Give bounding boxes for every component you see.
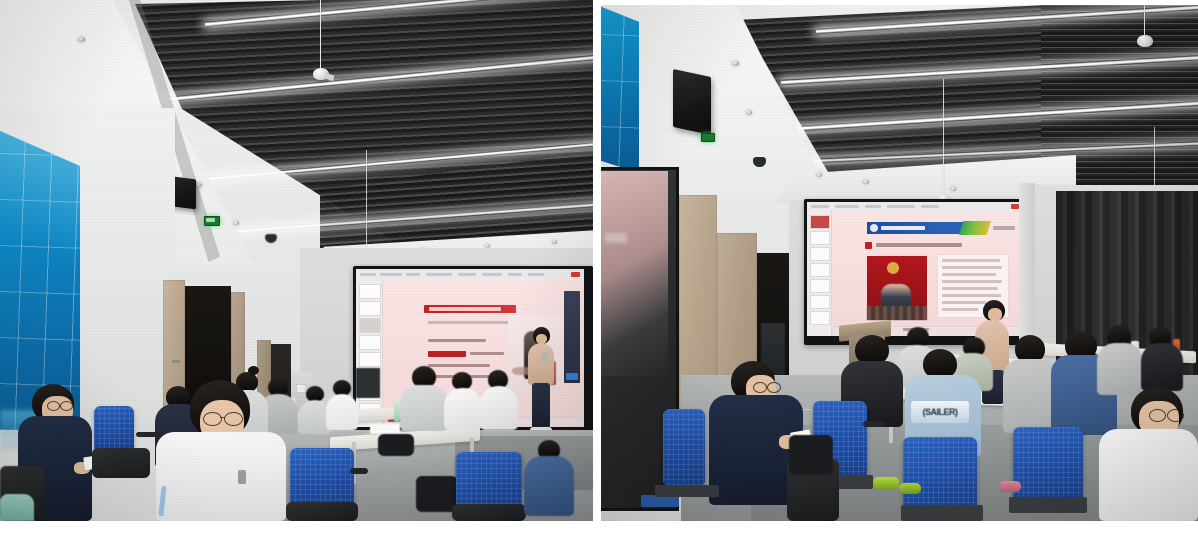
- slide-text-line: [942, 266, 1002, 269]
- sweatshirt-logo: [238, 470, 246, 484]
- eyeglasses: [47, 401, 60, 411]
- paper-sheet: [370, 424, 400, 434]
- presenter-legs: [532, 383, 550, 429]
- slide-body-line: [428, 339, 486, 342]
- chair-base: [1009, 497, 1087, 513]
- sneaker: [899, 483, 921, 494]
- spotlight-drop-wire: [320, 0, 321, 72]
- slide-title-text: [876, 243, 962, 247]
- ceiling-downlight: [816, 173, 822, 177]
- ceiling-downlight: [552, 240, 557, 244]
- student-sleeve: [0, 494, 34, 521]
- eyeglasses: [203, 412, 222, 426]
- ceiling-downlight: [951, 187, 956, 191]
- office-chair[interactable]: [663, 409, 705, 485]
- exit-sign: [701, 133, 715, 142]
- eyeglasses-bridge: [220, 417, 225, 418]
- slide-body-line: [470, 352, 504, 355]
- eyeglasses: [1149, 409, 1166, 422]
- slide-subtitle: [428, 321, 510, 324]
- presenter-microphone: [542, 352, 548, 363]
- office-chair[interactable]: [290, 448, 354, 510]
- chair-armrest: [863, 421, 885, 427]
- ceiling-downlight: [732, 61, 739, 66]
- slide-header-right-text: [993, 226, 1015, 230]
- track-spotlight: [1137, 35, 1153, 47]
- student-torso: [480, 386, 518, 430]
- chair-base: [655, 485, 719, 497]
- office-chair[interactable]: [903, 437, 977, 513]
- ceiling-downlight: [746, 110, 752, 115]
- student-torso: [1099, 429, 1198, 521]
- slide-text-line: [942, 301, 986, 304]
- student-head: [907, 327, 929, 347]
- ceiling-downlight: [78, 37, 85, 42]
- slide-text-line: [942, 280, 1002, 283]
- backpack: [378, 434, 414, 456]
- ceiling-downlight: [863, 180, 869, 184]
- eyeglasses: [753, 382, 767, 393]
- eyeglasses: [767, 382, 781, 393]
- solar-wall-panel: [601, 5, 639, 173]
- hoodie-graphic-text: (SAILER): [911, 405, 969, 419]
- student-torso: [326, 394, 358, 430]
- ceiling-downlight: [233, 221, 239, 225]
- student-torso: [524, 456, 574, 516]
- wall-speaker: [673, 69, 711, 135]
- student-torso: [400, 385, 448, 431]
- solar-panel-glow: [0, 130, 80, 430]
- student-torso: [444, 388, 482, 430]
- ceiling-drop-wire: [366, 150, 367, 262]
- eyeglasses: [224, 412, 243, 426]
- office-chair-seat[interactable]: [92, 448, 150, 478]
- slide-side-panel-accent: [566, 373, 578, 380]
- backpack: [789, 435, 833, 475]
- student-torso: [156, 432, 286, 521]
- right-photo[interactable]: (SAILER): [601, 5, 1198, 521]
- photo-pair-canvas: Wide interior view of a training classro…: [0, 0, 1198, 534]
- office-chair-seat[interactable]: [452, 504, 526, 521]
- ceiling-downlight: [196, 183, 202, 187]
- glass-board-reflection: [605, 233, 627, 243]
- slide-photo-audience: [867, 306, 927, 320]
- wall-outlet: [296, 384, 306, 393]
- slide-text-line: [942, 294, 1001, 297]
- presenter-torso: [528, 343, 554, 385]
- slide-header-logo: [870, 224, 878, 232]
- slide-text-line: [942, 287, 998, 290]
- office-chair-seat[interactable]: [286, 502, 358, 521]
- glass-board-glare: [601, 171, 668, 376]
- slide-header-text: [881, 226, 925, 230]
- slide-thumbnail-rail[interactable]: [356, 280, 383, 427]
- laptop: [356, 368, 380, 398]
- sneaker: [999, 481, 1021, 492]
- ceiling-drop-wire: [943, 79, 944, 204]
- slide-title-text: [429, 307, 501, 311]
- slide-thumbnail-rail[interactable]: [807, 211, 832, 336]
- slide-side-panel[interactable]: [564, 291, 580, 383]
- slide-text-line: [942, 308, 978, 311]
- sneaker: [873, 477, 899, 489]
- slide-highlight: [428, 351, 466, 357]
- slide-text-line: [942, 273, 996, 276]
- student-hair-bun: [248, 366, 259, 375]
- left-photo[interactable]: Wide interior view of a training classro…: [0, 0, 593, 521]
- slide-header-swoosh: [959, 221, 991, 235]
- door-handle[interactable]: [172, 360, 180, 363]
- slide-photo-emblem: [887, 262, 899, 274]
- chair-armrest: [350, 468, 368, 474]
- office-chair[interactable]: [1013, 427, 1083, 503]
- exit-sign-glyph: [206, 218, 215, 222]
- student-torso: [1097, 343, 1143, 395]
- slide-text-line: [942, 259, 1000, 262]
- student-torso: [1141, 343, 1183, 391]
- chair-armrest: [136, 432, 162, 437]
- slide-body-line: [428, 364, 490, 367]
- office-chair[interactable]: [94, 406, 134, 454]
- slide-bullet-marker: [865, 242, 872, 249]
- eyeglasses: [1167, 409, 1184, 422]
- eyeglasses: [60, 401, 73, 411]
- chair-base: [901, 505, 983, 521]
